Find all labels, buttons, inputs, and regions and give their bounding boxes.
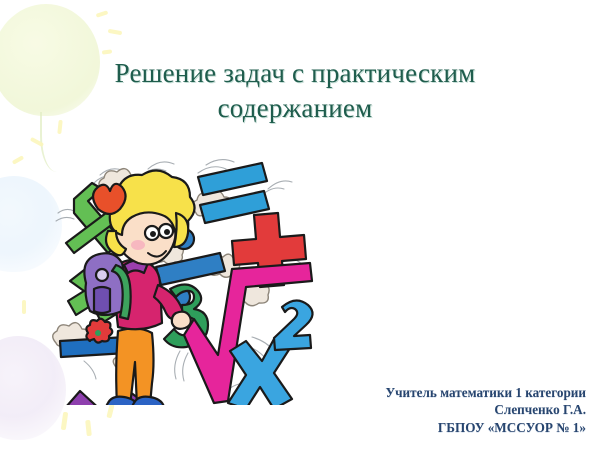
- slide-title: Решение задач с практическим содержанием: [60, 56, 530, 126]
- sparkle-icon: [61, 412, 68, 431]
- presentation-slide: Решение задач с практическим содержанием: [0, 0, 600, 450]
- sparkle-icon: [108, 29, 122, 35]
- math-clipart-illustration: [48, 155, 316, 405]
- sparkle-icon: [106, 404, 114, 419]
- sparkle-icon: [30, 137, 44, 147]
- author-credit-block: Учитель математики 1 категории Слепченко…: [385, 384, 586, 436]
- sparkle-icon: [102, 49, 112, 54]
- sparkle-icon: [85, 420, 92, 436]
- slide-title-line-1: Решение задач с практическим: [60, 56, 530, 91]
- author-role-line: Учитель математики 1 категории: [385, 384, 586, 401]
- slide-title-line-2: содержанием: [60, 91, 530, 126]
- author-name-line: Слепченко Г.А.: [385, 401, 586, 418]
- sparkle-icon: [22, 300, 26, 314]
- author-institution-line: ГБПОУ «МССУОР № 1»: [385, 419, 586, 436]
- sparkle-icon: [12, 155, 24, 164]
- sparkle-icon: [96, 10, 109, 18]
